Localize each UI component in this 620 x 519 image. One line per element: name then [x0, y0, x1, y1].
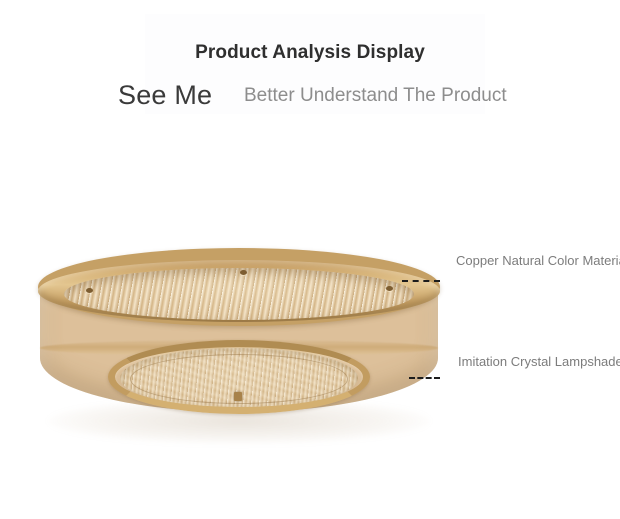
center-mount-screw-icon	[234, 392, 242, 401]
inner-gold-ring	[108, 340, 370, 414]
copper-top-rim-opening	[64, 268, 414, 320]
see-me-heading: See Me	[118, 78, 212, 112]
subheading-row: See Me Better Understand The Product	[118, 78, 588, 112]
ceiling-lamp-illustration	[38, 248, 440, 440]
rim-screw-icon	[386, 286, 393, 291]
callout-label: Imitation Crystal Lampshade	[458, 353, 620, 371]
page-title: Product Analysis Display	[0, 42, 620, 64]
tagline-text: Better Understand The Product	[244, 80, 507, 112]
callout-dashed-leader-line	[409, 377, 440, 379]
rim-screw-icon	[86, 288, 93, 293]
callout-label: Copper Natural Color Material	[456, 252, 620, 270]
rim-screw-icon	[240, 270, 247, 275]
product-analysis-page: Product Analysis Display See Me Better U…	[0, 0, 620, 519]
callout-dashed-leader-line	[402, 280, 440, 282]
